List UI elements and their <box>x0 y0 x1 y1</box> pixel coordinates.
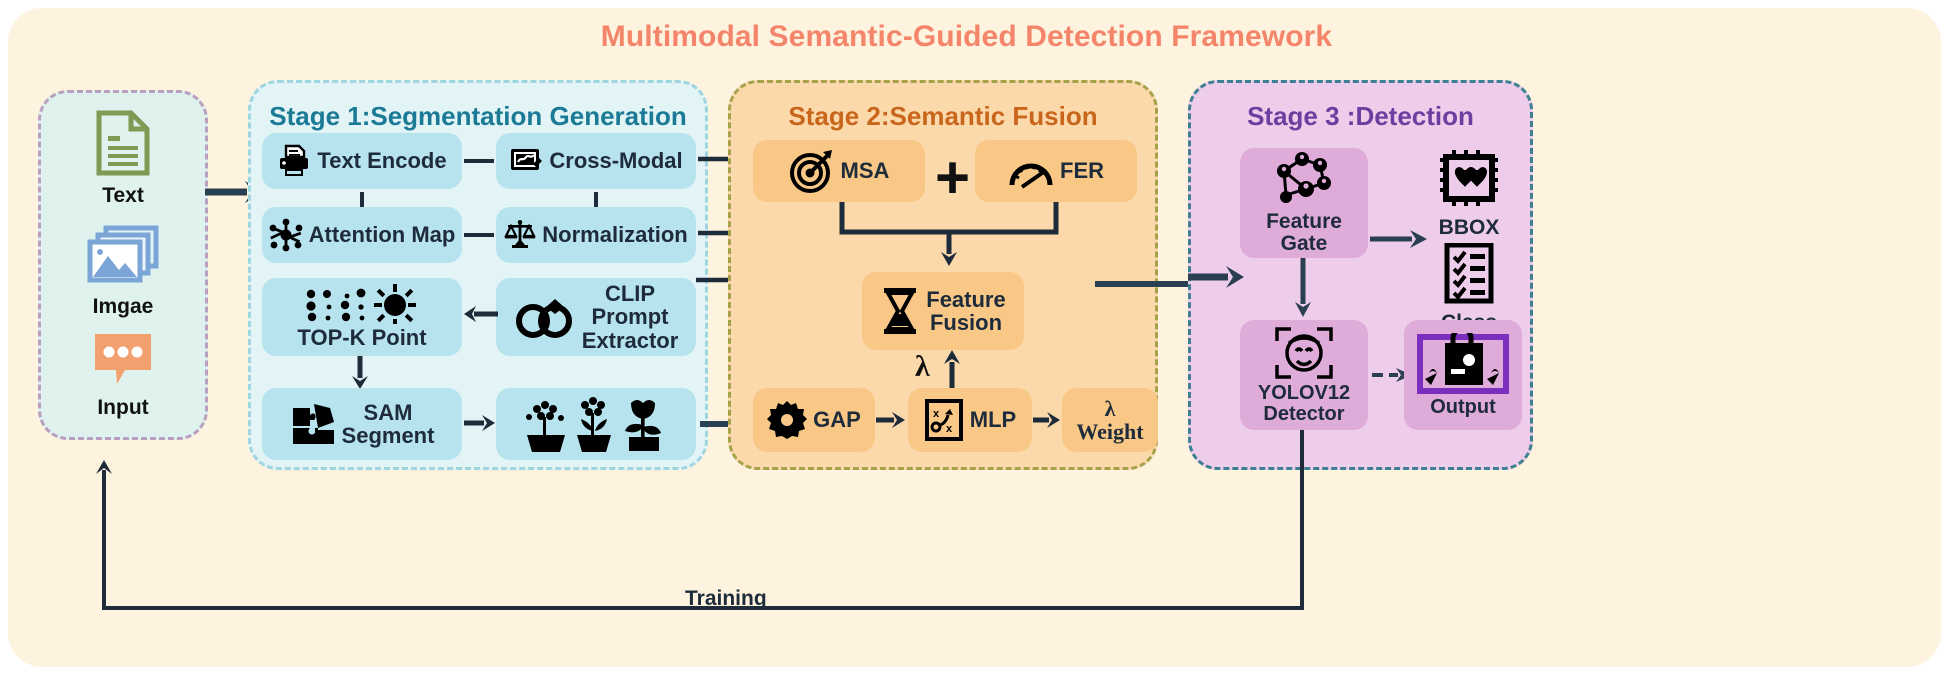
lambda-symbol: λ <box>915 350 930 384</box>
diagram-root: Multimodal Semantic-Guided Detection Fra… <box>0 0 1949 675</box>
dots-sun-icon <box>303 284 421 324</box>
hourglass-icon <box>880 286 920 336</box>
node-star-icon <box>269 218 303 252</box>
block-label: Normalization <box>542 223 687 246</box>
stage1-title: Stage 1:Segmentation Generation <box>251 101 705 132</box>
arrow-lambda-to-fusion <box>940 350 966 392</box>
arrow-into-feature-gate <box>1188 265 1246 291</box>
output-bbox: BBOX <box>1414 150 1524 240</box>
stage2-title: Stage 2:Semantic Fusion <box>731 101 1155 132</box>
target-dart-icon <box>789 148 835 194</box>
arrow-clip-to-topk <box>464 303 498 329</box>
input-item-label: Text <box>38 184 208 208</box>
output-label: BBOX <box>1414 216 1524 240</box>
printer-icon <box>277 144 311 178</box>
block-attention-map[interactable]: Attention Map <box>262 207 462 263</box>
input-item-input[interactable]: Input <box>38 330 208 420</box>
block-label: Feature Gate <box>1266 211 1342 255</box>
block-fer[interactable]: FER <box>975 140 1137 202</box>
link-encode-crossmodal <box>464 159 494 163</box>
block-label: MLP <box>970 408 1016 431</box>
balance-scale-icon <box>504 219 536 251</box>
arrow-gate-to-detector <box>1292 258 1316 318</box>
link-attention-normalization <box>464 233 494 237</box>
arrow-topk-to-sam <box>348 356 374 390</box>
detection-result-icon <box>1417 333 1509 395</box>
image-stack-icon <box>86 225 160 287</box>
block-label: Cross-Modal <box>549 149 682 172</box>
graph-nodes-icon <box>1272 151 1336 209</box>
block-label: GAP <box>813 408 861 431</box>
training-label: Training <box>685 587 767 611</box>
block-cross-modal[interactable]: Cross-Modal <box>496 133 696 189</box>
input-item-image[interactable]: Imgae <box>38 225 208 319</box>
input-item-label: Imgae <box>38 295 208 319</box>
block-msa[interactable]: MSA <box>753 140 925 202</box>
svg-text:x: x <box>933 408 940 420</box>
input-item-text[interactable]: Text <box>38 110 208 208</box>
speech-bubble-icon <box>91 330 155 388</box>
document-icon <box>95 110 151 176</box>
block-topk-point[interactable]: TOP-K Point <box>262 278 462 356</box>
face-scan-icon <box>1275 325 1333 381</box>
block-output[interactable]: Output <box>1404 320 1522 430</box>
bracket-msa-fer-to-fusion <box>838 202 1060 272</box>
gauge-icon <box>1008 152 1054 190</box>
stage3-title: Stage 3 :Detection <box>1191 101 1530 132</box>
checklist-icon <box>1441 243 1497 305</box>
block-label: Attention Map <box>309 223 456 246</box>
block-label: Text Encode <box>317 149 446 172</box>
stamp-hearts-icon <box>1438 150 1500 210</box>
block-label: CLIP Prompt Extractor <box>582 282 679 351</box>
linked-rings-icon <box>514 294 576 340</box>
block-label: Feature Fusion <box>926 288 1005 334</box>
plus-operator: + <box>935 148 970 208</box>
tick-crossmodal-down <box>594 192 598 208</box>
signature-pad-icon <box>509 146 543 176</box>
block-clip-prompt-extractor[interactable]: CLIP Prompt Extractor <box>496 278 696 356</box>
block-feature-fusion[interactable]: Feature Fusion <box>862 272 1024 350</box>
block-normalization[interactable]: Normalization <box>496 207 696 263</box>
block-yolov12-detector[interactable]: YOLOV12 Detector <box>1240 320 1368 430</box>
block-label: TOP-K Point <box>297 326 426 349</box>
block-label: YOLOV12 Detector <box>1258 383 1350 425</box>
input-item-label: Input <box>38 396 208 420</box>
block-text-encode[interactable]: Text Encode <box>262 133 462 189</box>
block-label: Output <box>1430 397 1496 418</box>
framework-title: Multimodal Semantic-Guided Detection Fra… <box>0 20 1933 54</box>
block-label: FER <box>1060 159 1104 182</box>
block-feature-gate[interactable]: Feature Gate <box>1240 148 1368 258</box>
block-label: MSA <box>841 159 890 182</box>
tick-encode-down <box>360 192 364 208</box>
